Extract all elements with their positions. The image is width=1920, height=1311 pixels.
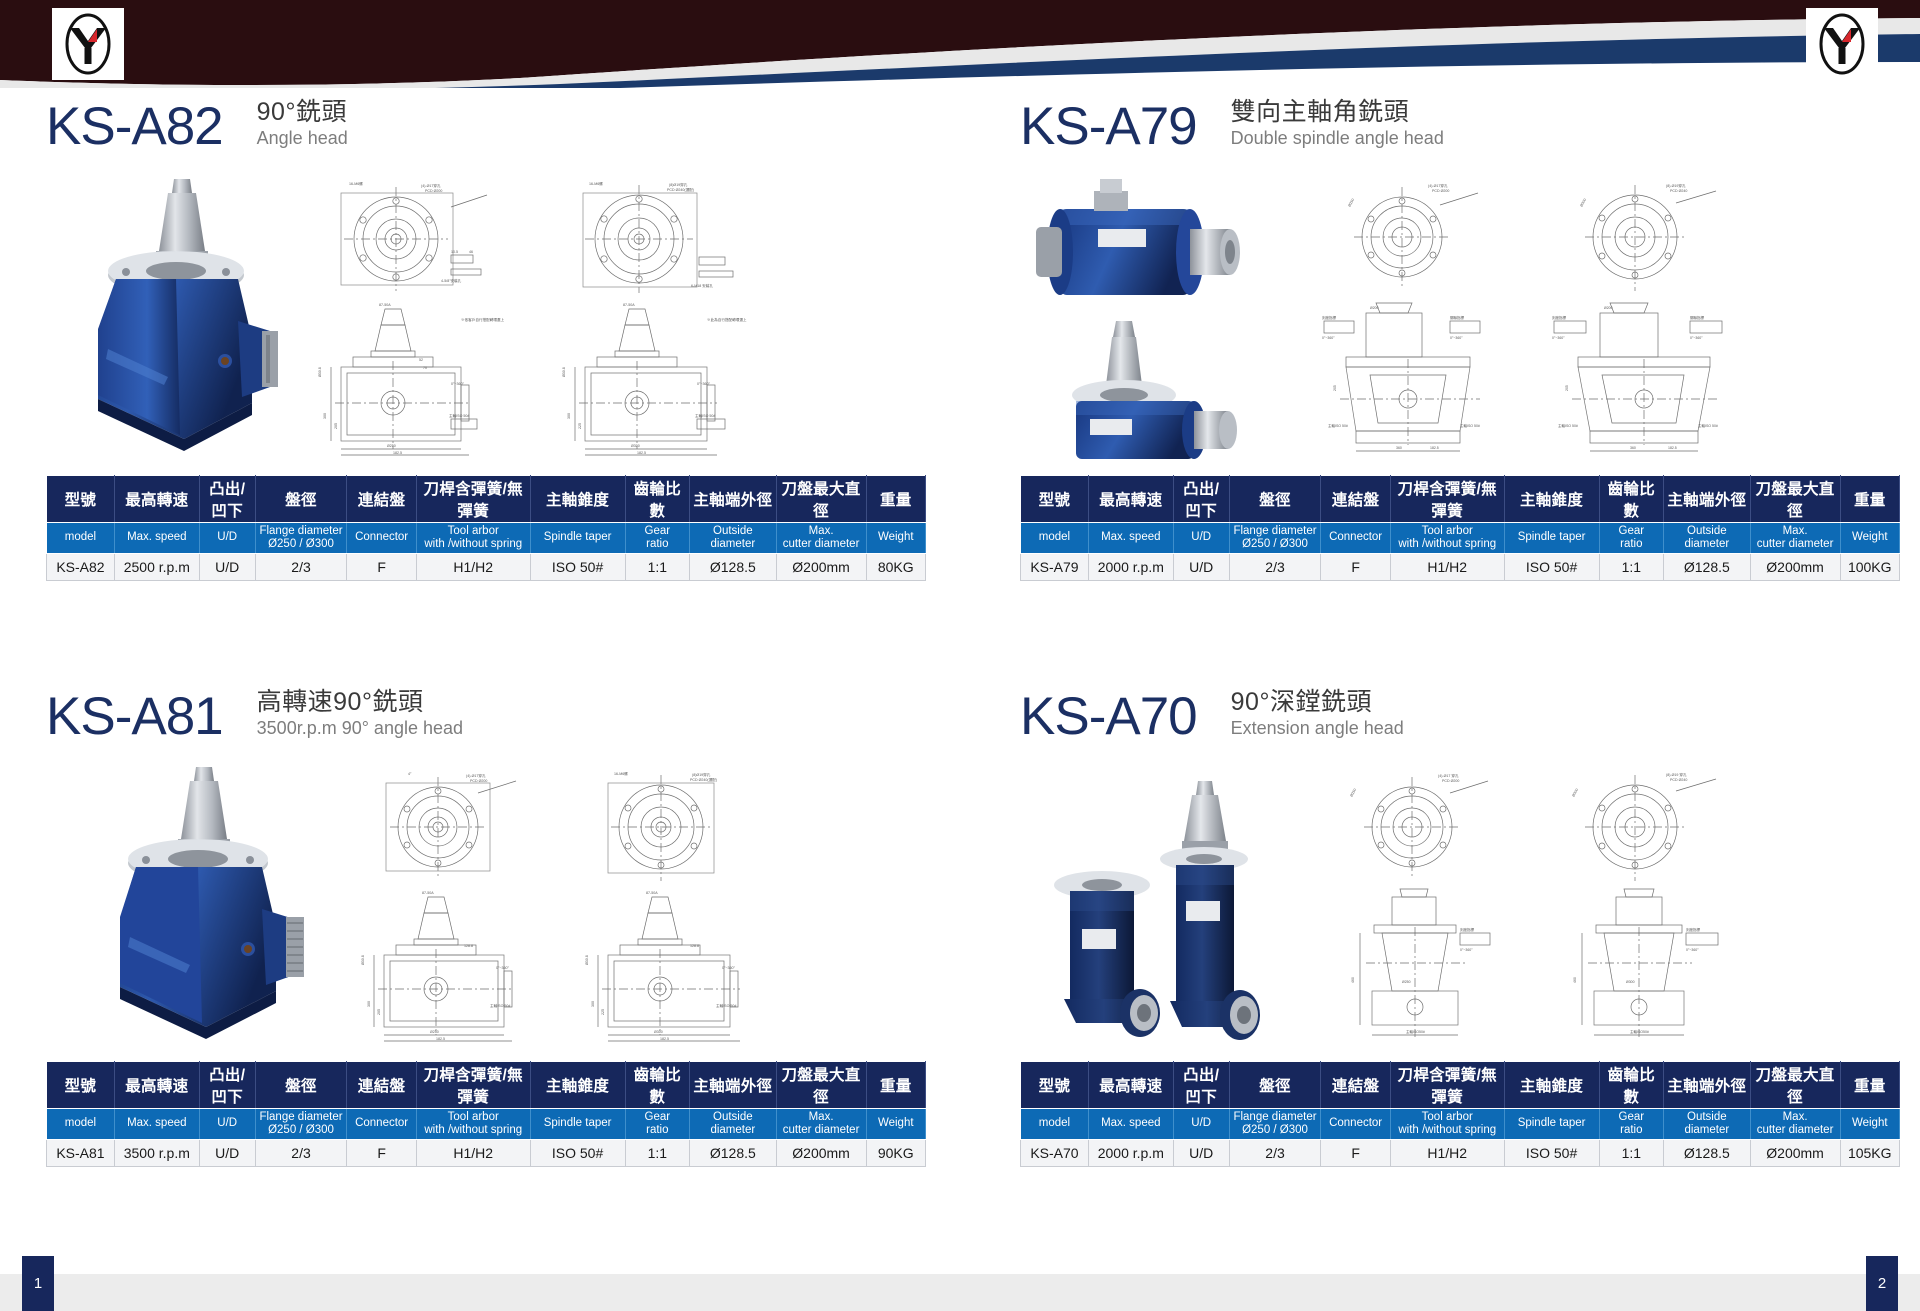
cell-speed: 2000 r.p.m (1088, 553, 1173, 580)
svg-text:460: 460 (1573, 977, 1577, 983)
cell-weight: 80KG (866, 553, 925, 580)
product-photo (56, 171, 286, 466)
svg-text:52: 52 (419, 358, 423, 362)
table-header-english: model Max. speed U/D Flange diameterØ250… (1021, 1108, 1900, 1139)
svg-text:PCD Ø240: PCD Ø240 (1670, 778, 1687, 782)
cell-outside: Ø128.5 (690, 553, 777, 580)
svg-text:Ø30.8: Ø30.8 (562, 367, 566, 377)
svg-text:87-50A: 87-50A (623, 303, 635, 307)
footer-bar (0, 1274, 1920, 1311)
spec-table-ks-a79: 型號 最高轉速 凸出/凹下 盤徑 連結盤 刀桿含彈簧/無彈簧 主軸錐度 齒輪比數… (1020, 475, 1900, 581)
model-code: KS-A79 (1020, 100, 1197, 153)
spec-table-ks-a82: 型號 最高轉速 凸出/凹下 盤徑 連結盤 刀桿含彈簧/無彈簧 主軸錐度 齒輪比數… (46, 475, 926, 581)
svg-text:0°~360°: 0°~360° (1690, 336, 1703, 340)
svg-text:Ø300: Ø300 (1571, 787, 1579, 797)
cell-speed: 2500 r.p.m (114, 553, 199, 580)
technical-drawing-front-flange: (4)-Ø17穿孔PCD Ø200 4° (346, 767, 546, 885)
th-en-cutter: Max.cutter diameter (1750, 1108, 1840, 1139)
svg-text:※此為自行搭配轉環選上: ※此為自行搭配轉環選上 (707, 317, 747, 322)
th-en-weight: Weight (1840, 522, 1899, 553)
company-y-logo-icon (1810, 12, 1874, 76)
table-row: KS-A82 2500 r.p.m U/D 2/3 F H1/H2 ISO 50… (47, 553, 926, 580)
model-code: KS-A70 (1020, 690, 1197, 743)
th-en-flange: Flange diameterØ250 / Ø300 (255, 1108, 347, 1139)
th-cn-ud: 凸出/凹下 (1173, 1061, 1229, 1108)
th-cn-arbor: 刀桿含彈簧/無彈簧 (416, 1061, 530, 1108)
svg-text:(8)-Ø19 穿孔: (8)-Ø19 穿孔 (1666, 772, 1687, 777)
svg-text:182.5: 182.5 (660, 1037, 669, 1041)
cell-flange: 2/3 (255, 1139, 347, 1166)
th-cn-gear: 齒輪比數 (625, 475, 689, 522)
th-en-cutter: Max.cutter diameter (776, 1108, 866, 1139)
svg-text:205: 205 (334, 423, 338, 429)
title-chinese: 90°銑頭 (257, 98, 348, 126)
svg-text:主軸ISO 50#: 主軸ISO 50# (449, 413, 469, 418)
th-cn-arbor: 刀桿含彈簧/無彈簧 (416, 475, 530, 522)
svg-text:主軸ISO 50#: 主軸ISO 50# (490, 1003, 510, 1008)
svg-text:Ø200: Ø200 (1604, 306, 1613, 310)
th-cn-outside: 主軸端外徑 (1664, 475, 1751, 522)
th-cn-weight: 重量 (1840, 475, 1899, 522)
th-cn-flange: 盤徑 (1229, 475, 1321, 522)
svg-text:0°~360°: 0°~360° (1322, 336, 1335, 340)
svg-text:182.5: 182.5 (1668, 446, 1677, 450)
technical-drawing-front-flange: (4)-Ø17穿孔 PCD Ø200 10.546 4-5/8"安裝孔 16-M… (301, 177, 511, 297)
technical-drawing-front-flange: (4)-Ø17 穿孔PCD Ø200 Ø250 (1320, 767, 1520, 885)
th-en-speed: Max. speed (1088, 1108, 1173, 1139)
svg-text:(4)-Ø17穿孔: (4)-Ø17穿孔 (421, 183, 441, 188)
title-chinese: 高轉速90°銑頭 (257, 688, 463, 716)
svg-text:Ø300: Ø300 (1626, 980, 1635, 984)
product-section-ks-a82: KS-A82 90°銑頭 Angle head (46, 98, 926, 581)
th-en-ud: U/D (1173, 1108, 1229, 1139)
technical-drawing-front-flange: (4)-Ø17穿孔PCD Ø200 Ø250 (1310, 177, 1510, 297)
cell-arbor: H1/H2 (1390, 1139, 1504, 1166)
cell-model: KS-A81 (47, 1139, 115, 1166)
th-cn-taper: 主軸錐度 (1504, 1061, 1599, 1108)
model-code: KS-A82 (46, 100, 223, 153)
cell-cutter: Ø200mm (1750, 553, 1840, 580)
svg-text:關聯指標: 關聯指標 (1450, 315, 1465, 320)
cell-taper: ISO 50# (1504, 1139, 1599, 1166)
th-cn-model: 型號 (1021, 1061, 1089, 1108)
th-en-outside: Outsidediameter (1664, 1108, 1751, 1139)
th-en-ud: U/D (199, 1108, 255, 1139)
th-cn-model: 型號 (47, 1061, 115, 1108)
th-cn-model: 型號 (47, 475, 115, 522)
cell-gear: 1:1 (1599, 553, 1663, 580)
svg-text:主軸ISO 50#: 主軸ISO 50# (716, 1003, 736, 1008)
cell-arbor: H1/H2 (416, 553, 530, 580)
svg-text:(4)-Ø17 穿孔: (4)-Ø17 穿孔 (1438, 773, 1459, 778)
svg-text:刻度指標: 刻度指標 (1460, 927, 1475, 932)
svg-text:Ø250: Ø250 (1347, 197, 1355, 207)
svg-text:Ø300: Ø300 (1579, 197, 1587, 207)
th-en-arbor: Tool arborwith /without spring (416, 522, 530, 553)
svg-text:225: 225 (578, 423, 582, 429)
cell-outside: Ø128.5 (1664, 1139, 1751, 1166)
th-cn-speed: 最高轉速 (114, 475, 199, 522)
th-cn-weight: 重量 (1840, 1061, 1899, 1108)
cell-outside: Ø128.5 (690, 1139, 777, 1166)
th-en-arbor: Tool arborwith /without spring (416, 1108, 530, 1139)
th-cn-ud: 凸出/凹下 (199, 475, 255, 522)
table-header-english: model Max. speed U/D Flange diameterØ250… (47, 1108, 926, 1139)
th-en-connector: Connector (1321, 522, 1391, 553)
svg-text:70: 70 (423, 366, 427, 370)
th-cn-ud: 凸出/凹下 (199, 1061, 255, 1108)
model-code: KS-A81 (46, 690, 223, 743)
technical-drawing-rear-flange: (8)Ø19穿孔PCD Ø240(選配) 16-M6螺 (566, 767, 776, 885)
cell-weight: 90KG (866, 1139, 925, 1166)
th-en-arbor: Tool arborwith /without spring (1390, 1108, 1504, 1139)
th-cn-flange: 盤徑 (1229, 1061, 1321, 1108)
svg-text:(4)-Ø17穿孔: (4)-Ø17穿孔 (466, 773, 486, 778)
th-cn-arbor: 刀桿含彈簧/無彈簧 (1390, 1061, 1504, 1108)
th-en-speed: Max. speed (1088, 522, 1173, 553)
th-en-weight: Weight (866, 522, 925, 553)
svg-text:300: 300 (591, 1001, 595, 1007)
th-en-taper: Spindle taper (1504, 1108, 1599, 1139)
svg-text:(8)Ø19穿孔: (8)Ø19穿孔 (669, 182, 688, 187)
svg-text:4-5/8"安裝孔: 4-5/8"安裝孔 (441, 278, 462, 283)
th-cn-connector: 連結盤 (1321, 475, 1391, 522)
svg-text:PCD Ø240(選配): PCD Ø240(選配) (690, 777, 717, 782)
th-en-taper: Spindle taper (530, 1108, 625, 1139)
product-photo (76, 761, 316, 1052)
cell-cutter: Ø200mm (776, 553, 866, 580)
table-header-chinese: 型號 最高轉速 凸出/凹下 盤徑 連結盤 刀桿含彈簧/無彈簧 主軸錐度 齒輪比數… (1021, 475, 1900, 522)
svg-text:87-50A: 87-50A (379, 303, 391, 307)
svg-text:300: 300 (567, 413, 571, 419)
th-en-ud: U/D (199, 522, 255, 553)
th-en-taper: Spindle taper (530, 522, 625, 553)
cell-flange: 2/3 (255, 553, 347, 580)
svg-text:PCD Ø200: PCD Ø200 (425, 189, 442, 193)
svg-text:182.5: 182.5 (436, 1037, 445, 1041)
product-section-ks-a70: KS-A70 90°深鏜銑頭 Extension angle head (1020, 688, 1900, 1167)
th-en-weight: Weight (866, 1108, 925, 1139)
svg-text:16-M6螺: 16-M6螺 (589, 181, 603, 186)
th-en-gear: Gearratio (1599, 522, 1663, 553)
svg-text:6-M18 安裝孔: 6-M18 安裝孔 (691, 283, 713, 288)
th-cn-taper: 主軸錐度 (1504, 475, 1599, 522)
th-cn-cutter: 刀盤最大直徑 (1750, 475, 1840, 522)
technical-drawing-side-section-2: Ø300 刻度指標0°~360° 460 主軸ISO50# (1540, 887, 1750, 1045)
th-cn-flange: 盤徑 (255, 1061, 347, 1108)
th-cn-gear: 齒輪比數 (1599, 1061, 1663, 1108)
title-english: Angle head (257, 128, 348, 150)
cell-model: KS-A70 (1021, 1139, 1089, 1166)
cell-ud: U/D (199, 1139, 255, 1166)
technical-drawing-side-section-1: Ø200 關聯指標0°~360° 刻度指標0°~360° 205 360182.… (1310, 299, 1510, 459)
cell-arbor: H1/H2 (416, 1139, 530, 1166)
th-en-flange: Flange diameterØ250 / Ø300 (1229, 522, 1321, 553)
svg-text:182.5: 182.5 (637, 451, 646, 455)
page-number-right: 2 (1866, 1256, 1898, 1311)
media-row: (4)-Ø17 穿孔PCD Ø200 Ø250 (1020, 761, 1900, 1047)
technical-drawing-side-section-2: Ø200 關聯指標0°~360° 刻度指標0°~360° 205 360182.… (1540, 299, 1750, 459)
company-logo-left (52, 8, 124, 80)
svg-text:關聯指標: 關聯指標 (1690, 315, 1705, 320)
svg-text:128.8: 128.8 (464, 944, 473, 948)
svg-text:205: 205 (1565, 385, 1569, 391)
table-header-english: model Max. speed U/D Flange diameterØ250… (47, 522, 926, 553)
section-heading: KS-A70 90°深鏜銑頭 Extension angle head (1020, 688, 1900, 743)
cell-cutter: Ø200mm (776, 1139, 866, 1166)
svg-text:0°~360°: 0°~360° (1450, 336, 1463, 340)
company-logo-right (1806, 8, 1878, 80)
th-cn-outside: 主軸端外徑 (690, 1061, 777, 1108)
cell-connector: F (1321, 553, 1391, 580)
svg-text:PCD Ø240(選配): PCD Ø240(選配) (667, 187, 694, 192)
svg-text:Ø250: Ø250 (387, 444, 396, 448)
svg-text:(4)-Ø17穿孔: (4)-Ø17穿孔 (1428, 183, 1448, 188)
table-header-english: model Max. speed U/D Flange diameterØ250… (1021, 522, 1900, 553)
th-en-model: model (47, 1108, 115, 1139)
svg-text:128.8: 128.8 (690, 944, 699, 948)
title-english: 3500r.p.m 90° angle head (257, 718, 463, 740)
technical-drawing-side-section-2: 87-50A Ø30.8 300 225 Ø300182.5 0°~360°主軸… (566, 887, 776, 1045)
svg-text:Ø300: Ø300 (654, 1030, 663, 1034)
cell-cutter: Ø200mm (1750, 1139, 1840, 1166)
svg-text:0°~360°: 0°~360° (1460, 948, 1473, 952)
th-en-taper: Spindle taper (1504, 522, 1599, 553)
th-en-outside: Outsidediameter (690, 1108, 777, 1139)
cell-model: KS-A79 (1021, 553, 1089, 580)
catalog-page: KS-A82 90°銑頭 Angle head (0, 0, 1920, 1311)
svg-text:主軸ISO 50#: 主軸ISO 50# (1460, 423, 1480, 428)
th-cn-cutter: 刀盤最大直徑 (776, 1061, 866, 1108)
spec-table-ks-a81: 型號 最高轉速 凸出/凹下 盤徑 連結盤 刀桿含彈簧/無彈簧 主軸錐度 齒輪比數… (46, 1061, 926, 1167)
media-row: (4)-Ø17穿孔 PCD Ø200 10.546 4-5/8"安裝孔 16-M… (46, 171, 926, 461)
th-cn-connector: 連結盤 (1321, 1061, 1391, 1108)
cell-arbor: H1/H2 (1390, 553, 1504, 580)
th-en-cutter: Max.cutter diameter (776, 522, 866, 553)
th-en-speed: Max. speed (114, 1108, 199, 1139)
svg-text:刻度指標: 刻度指標 (1686, 927, 1701, 932)
th-cn-model: 型號 (1021, 475, 1089, 522)
svg-text:225: 225 (601, 1009, 605, 1015)
technical-drawing-side-section-2: 87-50A Ø30.8 300 225 Ø300 182.5 0°~360° … (541, 299, 761, 459)
th-en-connector: Connector (347, 522, 417, 553)
title-chinese: 90°深鏜銑頭 (1231, 688, 1404, 716)
svg-text:360: 360 (1630, 446, 1636, 450)
th-cn-outside: 主軸端外徑 (1664, 1061, 1751, 1108)
th-en-weight: Weight (1840, 1108, 1899, 1139)
media-row: (4)-Ø17穿孔PCD Ø200 Ø250 (1020, 171, 1900, 461)
product-section-ks-a79: KS-A79 雙向主軸角銑頭 Double spindle angle head (1020, 98, 1900, 581)
cell-weight: 105KG (1840, 1139, 1899, 1166)
svg-text:刻度指標: 刻度指標 (1552, 315, 1567, 320)
table-header-chinese: 型號 最高轉速 凸出/凹下 盤徑 連結盤 刀桿含彈簧/無彈簧 主軸錐度 齒輪比數… (1021, 1061, 1900, 1108)
th-en-outside: Outsidediameter (690, 522, 777, 553)
cell-speed: 3500 r.p.m (114, 1139, 199, 1166)
svg-text:主軸ISO 50#: 主軸ISO 50# (1558, 423, 1578, 428)
th-cn-weight: 重量 (866, 1061, 925, 1108)
svg-text:16-M6螺: 16-M6螺 (614, 771, 628, 776)
th-cn-weight: 重量 (866, 475, 925, 522)
cell-gear: 1:1 (1599, 1139, 1663, 1166)
svg-text:主軸ISO 50#: 主軸ISO 50# (1328, 423, 1348, 428)
cell-flange: 2/3 (1229, 1139, 1321, 1166)
th-en-flange: Flange diameterØ250 / Ø300 (255, 522, 347, 553)
table-row: KS-A70 2000 r.p.m U/D 2/3 F H1/H2 ISO 50… (1021, 1139, 1900, 1166)
cell-model: KS-A82 (47, 553, 115, 580)
svg-text:Ø30.8: Ø30.8 (361, 955, 365, 965)
svg-text:PCD Ø200: PCD Ø200 (470, 779, 487, 783)
th-en-connector: Connector (347, 1108, 417, 1139)
product-photo (1020, 171, 1280, 466)
th-en-speed: Max. speed (114, 522, 199, 553)
th-en-model: model (1021, 1108, 1089, 1139)
th-cn-gear: 齒輪比數 (625, 1061, 689, 1108)
svg-text:0°~360°: 0°~360° (722, 966, 736, 970)
svg-text:0°~360°: 0°~360° (451, 382, 465, 386)
svg-text:4°: 4° (408, 772, 412, 776)
svg-text:0°~360°: 0°~360° (1686, 948, 1699, 952)
cell-speed: 2000 r.p.m (1088, 1139, 1173, 1166)
title-english: Extension angle head (1231, 718, 1404, 740)
svg-text:Ø30.8: Ø30.8 (585, 955, 589, 965)
cell-outside: Ø128.5 (1664, 553, 1751, 580)
cell-weight: 100KG (1840, 553, 1899, 580)
svg-text:Ø250: Ø250 (430, 1030, 439, 1034)
technical-drawing-side-section-1: 87-50A Ø30.8 300 205 Ø250182.5 0°~360°主軸… (346, 887, 546, 1045)
title-chinese: 雙向主軸角銑頭 (1231, 98, 1444, 126)
technical-drawing-side-section-1: 87-50A Ø30.8 300 205 Ø250 182.5 0°~360° … (301, 299, 511, 459)
title-english: Double spindle angle head (1231, 128, 1444, 150)
svg-text:87-50A: 87-50A (422, 891, 434, 895)
th-cn-taper: 主軸錐度 (530, 1061, 625, 1108)
section-heading: KS-A79 雙向主軸角銑頭 Double spindle angle head (1020, 98, 1900, 153)
svg-text:主軸ISO50#: 主軸ISO50# (1406, 1029, 1425, 1034)
svg-text:※依客戶自行搭配轉環選上: ※依客戶自行搭配轉環選上 (461, 317, 505, 322)
th-en-gear: Gearratio (625, 522, 689, 553)
cell-flange: 2/3 (1229, 553, 1321, 580)
th-en-arbor: Tool arborwith /without spring (1390, 522, 1504, 553)
table-row: KS-A79 2000 r.p.m U/D 2/3 F H1/H2 ISO 50… (1021, 553, 1900, 580)
cell-connector: F (347, 1139, 417, 1166)
svg-text:Ø200: Ø200 (1370, 306, 1379, 310)
page-number-left: 1 (22, 1256, 54, 1311)
th-cn-cutter: 刀盤最大直徑 (776, 475, 866, 522)
svg-text:主軸ISO 50#: 主軸ISO 50# (695, 413, 715, 418)
svg-text:46: 46 (469, 250, 473, 254)
cell-ud: U/D (1173, 1139, 1229, 1166)
th-en-gear: Gearratio (625, 1108, 689, 1139)
svg-text:360: 360 (1396, 446, 1402, 450)
svg-text:Ø250: Ø250 (1402, 980, 1411, 984)
section-heading: KS-A82 90°銑頭 Angle head (46, 98, 926, 153)
product-photo (1030, 761, 1290, 1052)
cell-taper: ISO 50# (530, 1139, 625, 1166)
svg-text:刻度指標: 刻度指標 (1322, 315, 1337, 320)
cell-ud: U/D (1173, 553, 1229, 580)
svg-text:0°~360°: 0°~360° (496, 966, 510, 970)
th-cn-connector: 連結盤 (347, 1061, 417, 1108)
svg-text:0°~360°: 0°~360° (697, 382, 711, 386)
svg-text:87-50A: 87-50A (646, 891, 658, 895)
cell-connector: F (1321, 1139, 1391, 1166)
th-cn-flange: 盤徑 (255, 475, 347, 522)
product-section-ks-a81: KS-A81 高轉速90°銑頭 3500r.p.m 90° angle head (46, 688, 926, 1167)
cell-taper: ISO 50# (1504, 553, 1599, 580)
th-en-cutter: Max.cutter diameter (1750, 522, 1840, 553)
th-cn-ud: 凸出/凹下 (1173, 475, 1229, 522)
th-cn-outside: 主軸端外徑 (690, 475, 777, 522)
svg-text:Ø250: Ø250 (1349, 787, 1357, 797)
cell-taper: ISO 50# (530, 553, 625, 580)
technical-drawing-rear-flange: (8)-Ø19 穿孔PCD Ø240 Ø300 (1540, 767, 1750, 885)
th-cn-speed: 最高轉速 (1088, 475, 1173, 522)
th-cn-speed: 最高轉速 (114, 1061, 199, 1108)
th-en-model: model (47, 522, 115, 553)
th-en-ud: U/D (1173, 522, 1229, 553)
th-cn-connector: 連結盤 (347, 475, 417, 522)
technical-drawing-rear-flange: (8)Ø19穿孔 PCD Ø240(選配) 6-M18 安裝孔 16-M6螺 (541, 177, 761, 297)
svg-text:0°~360°: 0°~360° (1552, 336, 1565, 340)
svg-text:182.5: 182.5 (1430, 446, 1439, 450)
header-banner (0, 0, 1920, 88)
svg-text:PCD Ø240: PCD Ø240 (1670, 189, 1687, 193)
svg-text:(8)Ø19穿孔: (8)Ø19穿孔 (692, 772, 711, 777)
svg-text:460: 460 (1351, 977, 1355, 983)
svg-text:PCD Ø200: PCD Ø200 (1432, 189, 1449, 193)
cell-gear: 1:1 (625, 553, 689, 580)
table-header-chinese: 型號 最高轉速 凸出/凹下 盤徑 連結盤 刀桿含彈簧/無彈簧 主軸錐度 齒輪比數… (47, 1061, 926, 1108)
th-en-outside: Outsidediameter (1664, 522, 1751, 553)
th-en-flange: Flange diameterØ250 / Ø300 (1229, 1108, 1321, 1139)
svg-text:Ø30.8: Ø30.8 (318, 367, 322, 377)
svg-text:300: 300 (367, 1001, 371, 1007)
th-en-connector: Connector (1321, 1108, 1391, 1139)
svg-text:205: 205 (1333, 385, 1337, 391)
technical-drawing-side-section-1: Ø250 刻度指標0°~360° 460 主軸ISO50# (1320, 887, 1520, 1045)
section-heading: KS-A81 高轉速90°銑頭 3500r.p.m 90° angle head (46, 688, 926, 743)
th-cn-arbor: 刀桿含彈簧/無彈簧 (1390, 475, 1504, 522)
svg-text:16-M6螺: 16-M6螺 (349, 181, 363, 186)
cell-ud: U/D (199, 553, 255, 580)
th-en-model: model (1021, 522, 1089, 553)
svg-text:主軸ISO 50#: 主軸ISO 50# (1698, 423, 1718, 428)
svg-text:182.5: 182.5 (393, 451, 402, 455)
technical-drawing-rear-flange: (8)-Ø19穿孔PCD Ø240 Ø300 (1540, 177, 1750, 297)
cell-connector: F (347, 553, 417, 580)
svg-text:Ø300: Ø300 (631, 444, 640, 448)
th-cn-cutter: 刀盤最大直徑 (1750, 1061, 1840, 1108)
th-en-gear: Gearratio (1599, 1108, 1663, 1139)
table-header-chinese: 型號 最高轉速 凸出/凹下 盤徑 連結盤 刀桿含彈簧/無彈簧 主軸錐度 齒輪比數… (47, 475, 926, 522)
th-cn-gear: 齒輪比數 (1599, 475, 1663, 522)
cell-gear: 1:1 (625, 1139, 689, 1166)
company-y-logo-icon (56, 12, 120, 76)
svg-text:205: 205 (377, 1009, 381, 1015)
table-row: KS-A81 3500 r.p.m U/D 2/3 F H1/H2 ISO 50… (47, 1139, 926, 1166)
svg-text:300: 300 (323, 413, 327, 419)
svg-text:PCD Ø200: PCD Ø200 (1442, 779, 1459, 783)
svg-text:主軸ISO50#: 主軸ISO50# (1630, 1029, 1649, 1034)
spec-table-ks-a70: 型號 最高轉速 凸出/凹下 盤徑 連結盤 刀桿含彈簧/無彈簧 主軸錐度 齒輪比數… (1020, 1061, 1900, 1167)
th-cn-taper: 主軸錐度 (530, 475, 625, 522)
media-row: (4)-Ø17穿孔PCD Ø200 4° (46, 761, 926, 1047)
svg-text:10.5: 10.5 (451, 250, 458, 254)
svg-text:(8)-Ø19穿孔: (8)-Ø19穿孔 (1666, 183, 1686, 188)
th-cn-speed: 最高轉速 (1088, 1061, 1173, 1108)
